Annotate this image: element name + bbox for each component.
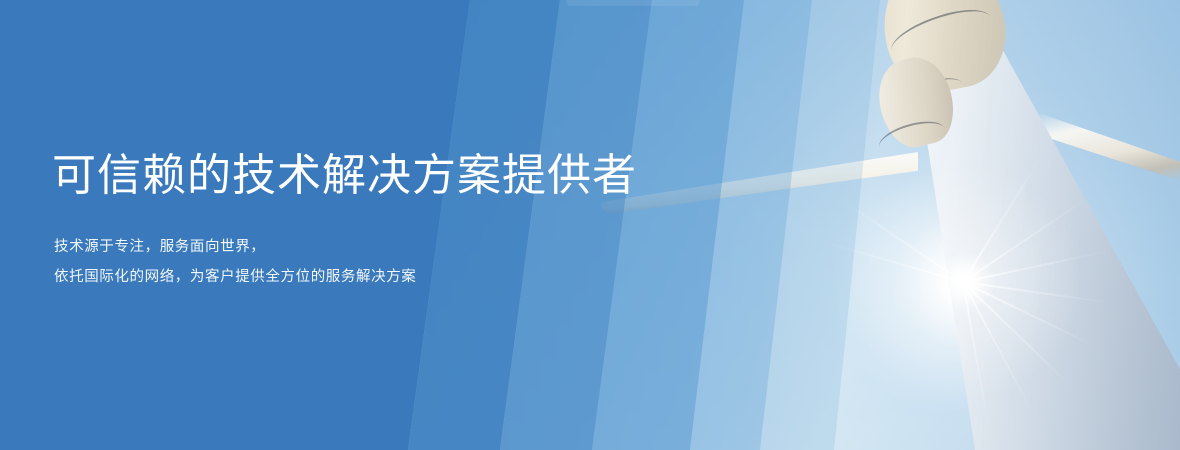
hero-banner: 可信赖的技术解决方案提供者 技术源于专注，服务面向世界， 依托国际化的网络，为客…: [0, 0, 1180, 450]
hero-copy: 可信赖的技术解决方案提供者 技术源于专注，服务面向世界， 依托国际化的网络，为客…: [52, 0, 672, 450]
hero-headline: 可信赖的技术解决方案提供者: [52, 150, 637, 202]
hero-subtitle-line-2: 依托国际化的网络，为客户提供全方位的服务解决方案: [54, 267, 416, 287]
hero-subtitle-line-1: 技术源于专注，服务面向世界，: [54, 237, 265, 257]
